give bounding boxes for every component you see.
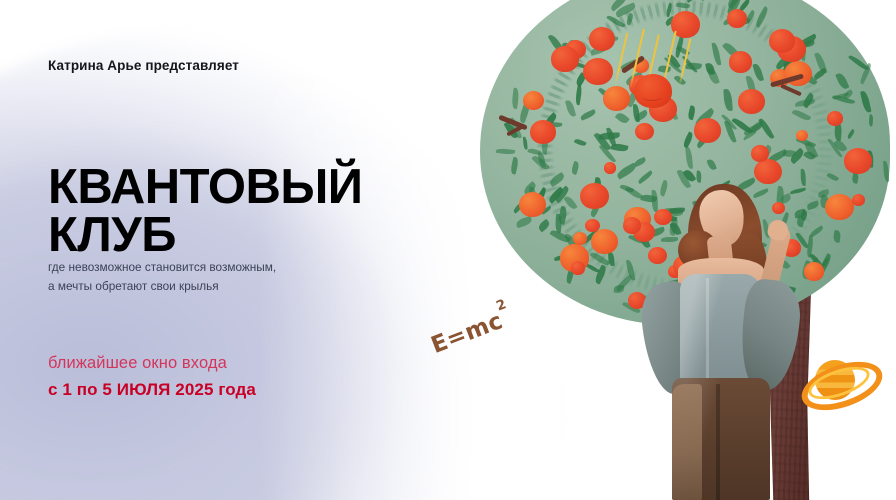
apple [751,145,769,162]
presenter-eyebrow: Катрина Арье представляет [48,58,239,73]
subtitle: где невозможное становится возможным, а … [48,258,378,297]
apple [604,162,617,174]
apple [551,46,579,72]
apple [844,148,872,174]
saturn-planet [803,352,869,410]
apple [523,91,544,110]
apple [635,123,654,140]
apple [738,89,766,115]
poster-canvas: Катрина Арье представляет КВАНТОВЫЙ КЛУБ… [0,0,896,500]
sleeve-right [736,277,803,392]
illustration [466,0,896,500]
cta-window-label: ближайшее окно входа [48,352,378,374]
apple [571,261,586,274]
falling-apple [634,74,672,108]
apple [727,9,748,28]
trousers-highlight [672,384,702,500]
apple [796,130,808,141]
apple [852,194,865,206]
subtitle-line-2: а мечты обретают свои крылья [48,277,378,296]
page-title: КВАНТОВЫЙ КЛУБ [48,163,448,260]
apple [530,120,556,144]
subtitle-line-1: где невозможное становится возможным, [48,258,378,277]
apple [591,229,618,254]
title-line-2: КЛУБ [48,211,448,260]
apple [580,183,609,209]
apple [573,232,587,245]
title-line-1: КВАНТОВЫЙ [48,163,448,212]
apple [769,29,795,53]
text-column: Катрина Арье представляет КВАНТОВЫЙ КЛУБ… [48,0,478,500]
cta-window-dates: с 1 по 5 ИЮЛЯ 2025 года [48,379,378,401]
apple [583,58,613,86]
apple [589,27,616,51]
apple [729,51,753,73]
apple [694,118,721,143]
apple [519,192,547,217]
apple [827,111,843,126]
woman-figure [616,178,816,500]
apple [825,194,854,221]
enrollment-window-callout: ближайшее окно входа с 1 по 5 ИЮЛЯ 2025 … [48,352,378,401]
streak-5 [679,38,692,85]
